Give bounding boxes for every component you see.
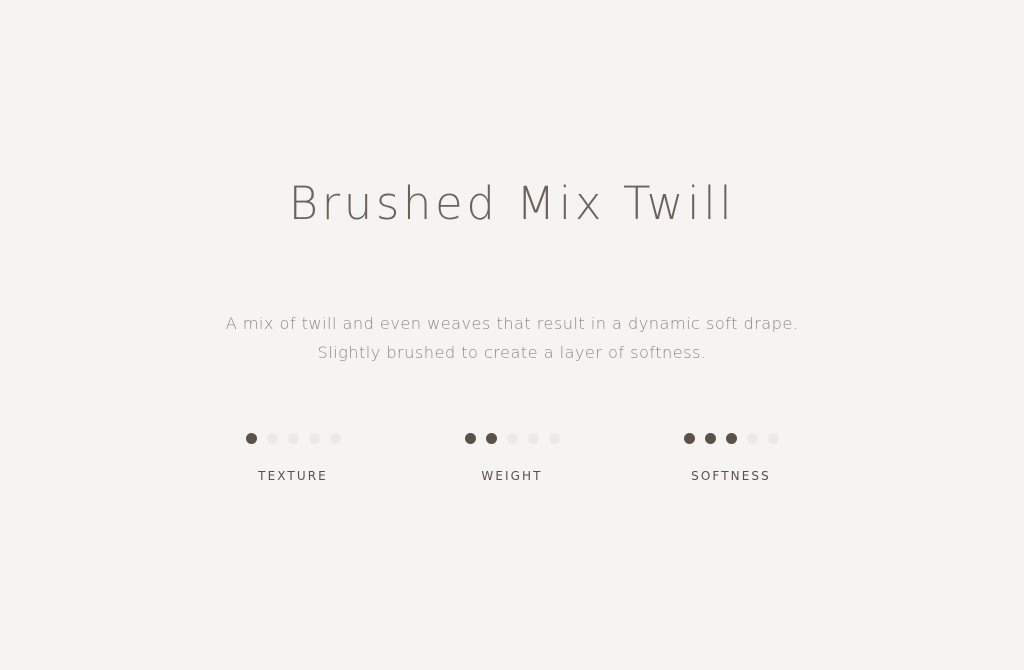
rating-dot-filled bbox=[705, 433, 716, 444]
rating-dot-empty bbox=[309, 433, 320, 444]
rating-dot-filled bbox=[246, 433, 257, 444]
page-title: Brushed Mix Twill bbox=[0, 178, 1024, 230]
rating-group-softness: SOFTNESS bbox=[622, 430, 841, 483]
rating-dots-weight bbox=[465, 430, 560, 446]
rating-dot-empty bbox=[747, 433, 758, 444]
rating-dot-empty bbox=[288, 433, 299, 444]
rating-group-texture: TEXTURE bbox=[184, 430, 403, 483]
ratings-row: TEXTURE WEIGHT SOFTNESS bbox=[0, 430, 1024, 483]
rating-dot-empty bbox=[768, 433, 779, 444]
rating-dots-texture bbox=[246, 430, 341, 446]
rating-dot-empty bbox=[330, 433, 341, 444]
rating-dots-softness bbox=[684, 430, 779, 446]
rating-dot-filled bbox=[684, 433, 695, 444]
rating-dot-empty bbox=[267, 433, 278, 444]
rating-group-weight: WEIGHT bbox=[403, 430, 622, 483]
rating-dot-empty bbox=[507, 433, 518, 444]
rating-dot-filled bbox=[726, 433, 737, 444]
rating-dot-filled bbox=[486, 433, 497, 444]
fabric-detail-card: Brushed Mix Twill A mix of twill and eve… bbox=[0, 0, 1024, 670]
rating-label-texture: TEXTURE bbox=[258, 469, 328, 483]
rating-label-weight: WEIGHT bbox=[481, 469, 542, 483]
rating-label-softness: SOFTNESS bbox=[691, 469, 771, 483]
rating-dot-empty bbox=[549, 433, 560, 444]
fabric-description: A mix of twill and even weaves that resu… bbox=[192, 309, 832, 367]
rating-dot-filled bbox=[465, 433, 476, 444]
rating-dot-empty bbox=[528, 433, 539, 444]
